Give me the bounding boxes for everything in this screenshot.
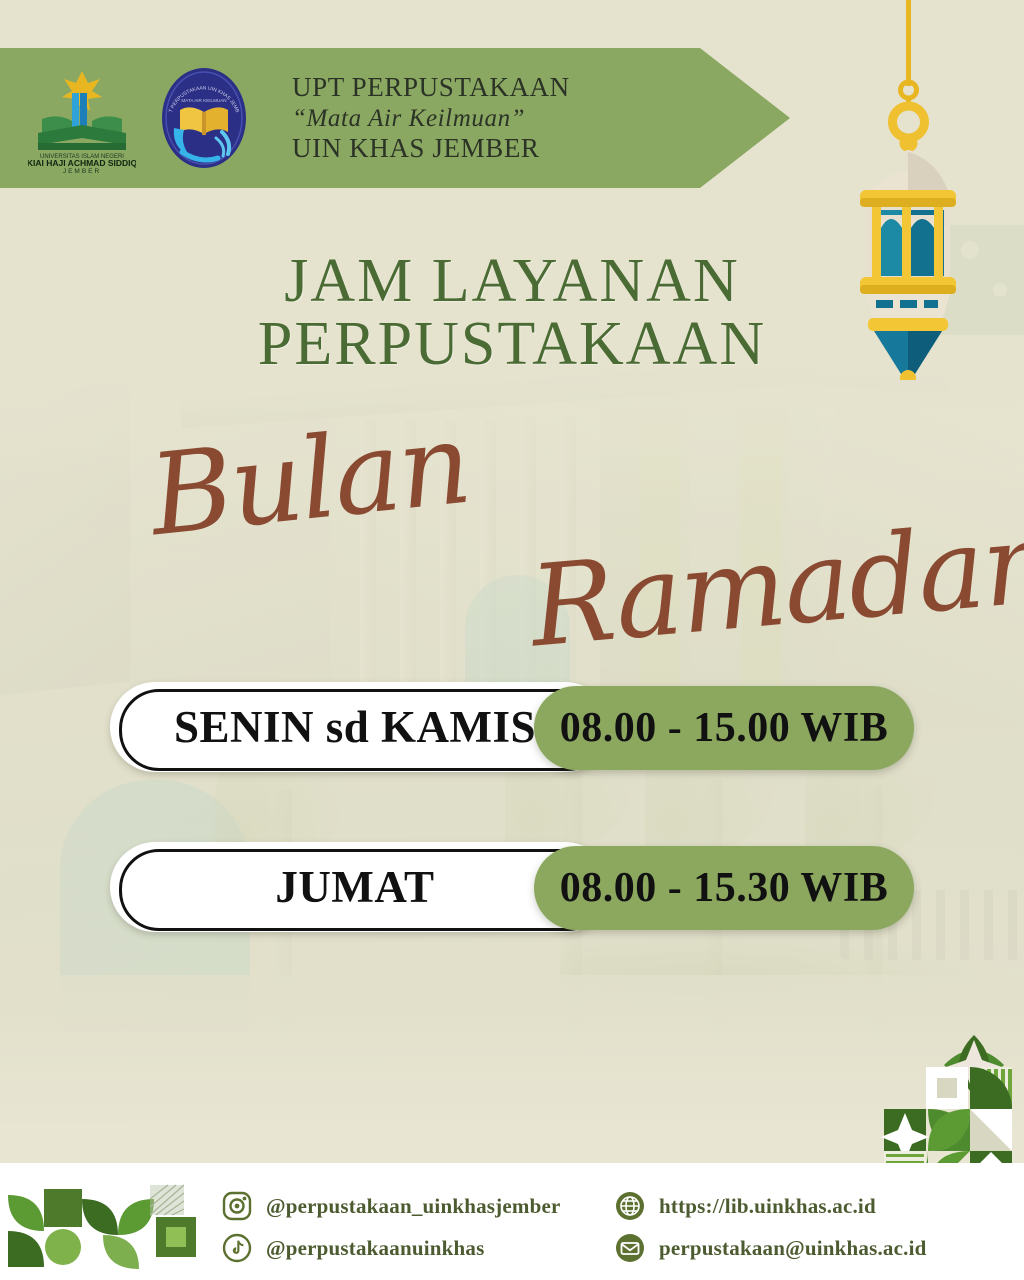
svg-text:MATA AIR KEILMUAN: MATA AIR KEILMUAN xyxy=(181,98,226,103)
schedule-row: SENIN sd KAMIS 08.00 - 15.00 WIB xyxy=(0,682,1024,778)
schedule-row: JUMAT 08.00 - 15.30 WIB xyxy=(0,842,1024,938)
header-text-block: UPT PERPUSTAKAAN “Mata Air Keilmuan” UIN… xyxy=(292,72,570,164)
globe-icon xyxy=(615,1191,645,1221)
contact-item[interactable]: @perpustakaanuinkhas xyxy=(222,1227,561,1269)
title-line-1: JAM LAYANAN xyxy=(0,250,1024,313)
tiktok-handle: @perpustakaanuinkhas xyxy=(266,1236,484,1261)
contact-item[interactable]: @perpustakaan_uinkhasjember xyxy=(222,1185,561,1227)
tiktok-icon xyxy=(222,1233,252,1263)
header-line-2: “Mata Air Keilmuan” xyxy=(292,104,570,133)
time-pill: 08.00 - 15.30 WIB xyxy=(534,846,914,930)
footer-contacts-right: https://lib.uinkhas.ac.id perpustakaan@u… xyxy=(615,1185,927,1269)
header-line-3: UIN KHAS JEMBER xyxy=(292,133,570,164)
page-title: JAM LAYANAN PERPUSTAKAAN xyxy=(0,250,1024,376)
upt-perpustakaan-logo: UPT PERPUSTAKAAN UIN KHAS JEMBER MATA AI… xyxy=(156,66,252,170)
poster-canvas: UNIVERSITAS ISLAM NEGERI KIAI HAJI ACHMA… xyxy=(0,0,1024,1280)
header-banner: UNIVERSITAS ISLAM NEGERI KIAI HAJI ACHMA… xyxy=(0,48,790,188)
footer-bar: @perpustakaan_uinkhasjember @perpustakaa… xyxy=(0,1163,1024,1280)
uin-khas-jember-logo: UNIVERSITAS ISLAM NEGERI KIAI HAJI ACHMA… xyxy=(28,63,136,173)
email-address: perpustakaan@uinkhas.ac.id xyxy=(659,1236,927,1261)
geometric-leaf-motif-icon xyxy=(874,1020,1024,1170)
website-url: https://lib.uinkhas.ac.id xyxy=(659,1194,876,1219)
svg-text:JEMBER: JEMBER xyxy=(63,168,101,173)
contact-item[interactable]: perpustakaan@uinkhas.ac.id xyxy=(615,1227,927,1269)
header-line-1: UPT PERPUSTAKAAN xyxy=(292,72,570,103)
instagram-handle: @perpustakaan_uinkhasjember xyxy=(266,1194,561,1219)
svg-text:KIAI HAJI ACHMAD SIDDIQ: KIAI HAJI ACHMAD SIDDIQ xyxy=(28,158,136,168)
footer-contacts-left: @perpustakaan_uinkhasjember @perpustakaa… xyxy=(222,1185,561,1269)
contact-item[interactable]: https://lib.uinkhas.ac.id xyxy=(615,1185,927,1227)
title-line-2: PERPUSTAKAAN xyxy=(0,313,1024,376)
geometric-leaf-motif-small-icon xyxy=(8,1177,198,1269)
envelope-icon xyxy=(615,1233,645,1263)
time-pill: 08.00 - 15.00 WIB xyxy=(534,686,914,770)
instagram-icon xyxy=(222,1191,252,1221)
